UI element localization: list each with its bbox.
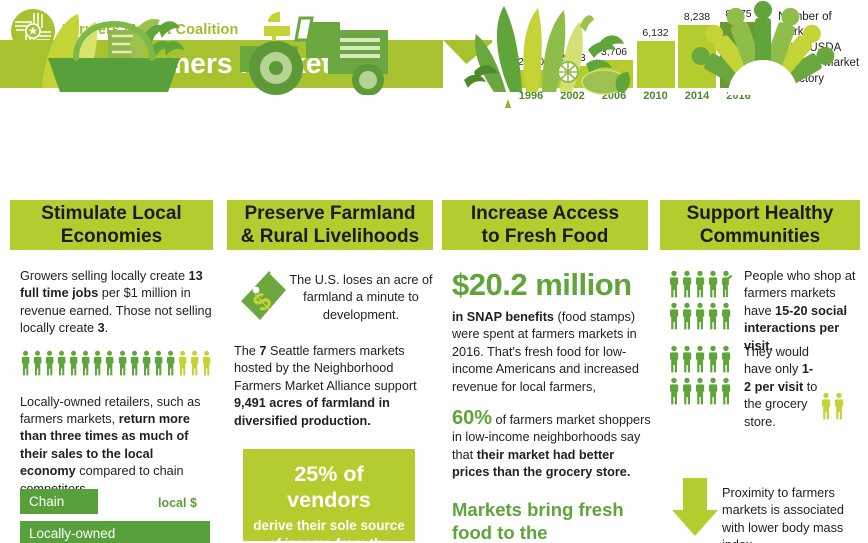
person-icon [707, 377, 719, 405]
down-arrow-icon [672, 478, 718, 541]
person-icon [694, 345, 706, 373]
person-icon [720, 377, 732, 405]
chain-bar: Chain [20, 489, 98, 514]
people-row [668, 377, 732, 405]
person-icon [720, 345, 732, 373]
community-sunburst-icon [668, 0, 858, 95]
person-icon [668, 377, 680, 405]
people-row [820, 392, 845, 420]
infographic-root: Farmers Market Coalition Why Farmers Mar… [0, 0, 868, 543]
column-heading-3: Increase Accessto Fresh Food [442, 200, 648, 250]
column-heading-4: Support HealthyCommunities [660, 200, 860, 250]
column-heading-3-text: Increase Accessto Fresh Food [471, 202, 619, 248]
column-heading-1-text: Stimulate LocalEconomies [41, 202, 181, 248]
column-4-paragraph-1: People who shop at farmers markets have … [744, 268, 864, 355]
person-icon [707, 345, 719, 373]
column-heading-1: Stimulate LocalEconomies [10, 200, 213, 250]
column-4-paragraph-2: They would have only 1-2 per visit to th… [744, 344, 820, 431]
person-icon [820, 392, 832, 420]
local-dollars-axis-label: local $ [158, 496, 197, 510]
people-row [668, 345, 732, 373]
jobs-people-pictogram [20, 349, 212, 377]
callout-subtext: derive their sole source of income from … [253, 517, 405, 543]
person-icon [68, 349, 79, 377]
social-interactions-pictogram-1 [668, 270, 732, 330]
column-4-paragraph-3: Proximity to farmers markets is associat… [722, 485, 864, 543]
small-triangle-marker-icon [505, 99, 511, 108]
person-icon [681, 302, 693, 330]
person-icon [201, 349, 212, 377]
person-icon [720, 270, 732, 298]
locally-owned-bar-group: Locally-owned [20, 521, 210, 543]
column-3-paragraph-1: in SNAP benefits (food stamps) were spen… [452, 309, 652, 396]
person-icon [104, 349, 115, 377]
markets-statement: Markets bring fresh food to the neighbor… [452, 498, 652, 543]
person-icon [694, 302, 706, 330]
person-icon [833, 392, 845, 420]
person-icon [668, 302, 680, 330]
snap-money-figure: $20.2 million [452, 268, 652, 302]
person-icon [668, 270, 680, 298]
column-3-paragraph-2: 60% of farmers market shoppers in low-in… [452, 410, 652, 482]
tractor-icon [228, 0, 433, 95]
person-icon [129, 349, 140, 377]
person-icon [80, 349, 91, 377]
chain-bar-group: Chain [20, 489, 98, 514]
column-divider-1 [220, 108, 225, 543]
market-basket-icon [12, 0, 212, 95]
person-icon [177, 349, 188, 377]
person-icon [56, 349, 67, 377]
column-1-paragraph-1: Growers selling locally create 13 full t… [20, 268, 212, 338]
person-icon [20, 349, 31, 377]
person-icon [141, 349, 152, 377]
social-interactions-pictogram-2 [668, 345, 732, 405]
person-icon [681, 377, 693, 405]
dollar-price-tag-icon: $ [234, 268, 290, 343]
callout-headline: 25% of vendors [253, 461, 405, 513]
locally-owned-bar: Locally-owned [20, 521, 210, 543]
fresh-produce-icon [450, 0, 650, 95]
column-2-paragraph-2: The 7 Seattle farmers markets hosted by … [234, 343, 434, 430]
person-icon [153, 349, 164, 377]
person-icon [707, 270, 719, 298]
column-heading-2-text: Preserve Farmland& Rural Livelihoods [241, 202, 419, 248]
vendors-callout-box: 25% of vendors derive their sole source … [243, 449, 415, 541]
people-row [668, 270, 732, 298]
column-divider-3 [652, 108, 660, 543]
column-divider-2 [435, 108, 440, 543]
person-icon [165, 349, 176, 377]
column-heading-4-text: Support HealthyCommunities [687, 202, 834, 248]
person-icon [668, 345, 680, 373]
people-row [668, 302, 732, 330]
person-icon [694, 377, 706, 405]
person-icon [707, 302, 719, 330]
person-icon [189, 349, 200, 377]
person-icon [681, 270, 693, 298]
person-icon [92, 349, 103, 377]
column-heading-2: Preserve Farmland& Rural Livelihoods [227, 200, 433, 250]
column-2-paragraph-1: The U.S. loses an acre of farmland a min… [288, 272, 434, 324]
person-icon [117, 349, 128, 377]
person-icon [720, 302, 732, 330]
person-icon [32, 349, 43, 377]
grocery-pair-pictogram [820, 392, 845, 420]
person-icon [681, 345, 693, 373]
person-icon [694, 270, 706, 298]
column-1-paragraph-2: Locally-owned retailers, such as farmers… [20, 394, 212, 498]
person-icon [44, 349, 55, 377]
